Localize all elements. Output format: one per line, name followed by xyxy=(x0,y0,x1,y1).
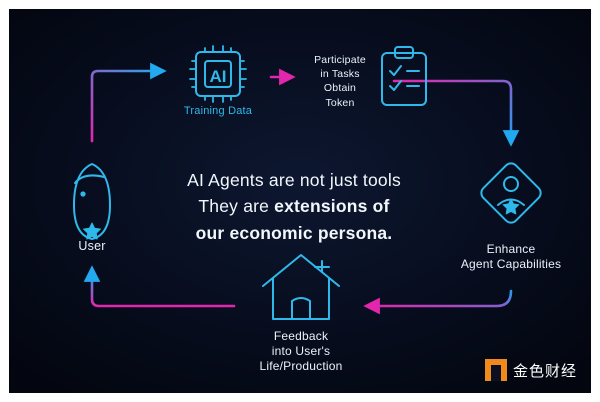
headline-line-1: AI Agents are not just tools xyxy=(129,167,459,193)
label-training-data: Training Data xyxy=(163,105,273,119)
headline-line-2-plain: They are xyxy=(198,196,274,216)
svg-text:AI: AI xyxy=(210,67,227,86)
house-icon xyxy=(263,255,339,319)
headline-line-2-bold: extensions of xyxy=(274,196,389,216)
checklist-icon xyxy=(382,47,426,105)
screenshot-canvas: AI xyxy=(0,0,600,402)
label-participate-tasks: Participate in Tasks Obtain Token xyxy=(304,53,376,110)
headline-line-2: They are extensions of xyxy=(129,193,459,219)
ai-chip-icon: AI xyxy=(190,46,246,102)
watermark-text: 金色财经 xyxy=(513,360,577,381)
agent-badge-icon xyxy=(478,160,543,225)
headline-line-3: our economic persona. xyxy=(129,220,459,246)
label-user: User xyxy=(62,239,122,255)
label-enhance-agent: Enhance Agent Capabilities xyxy=(451,242,571,272)
user-avatar-icon xyxy=(74,164,110,239)
label-feedback: Feedback into User's Life/Production xyxy=(241,329,361,374)
diagram-panel: AI xyxy=(9,9,591,393)
jinse-logo-icon xyxy=(485,359,507,381)
watermark: 金色财经 xyxy=(485,359,577,381)
headline: AI Agents are not just tools They are ex… xyxy=(129,167,459,246)
